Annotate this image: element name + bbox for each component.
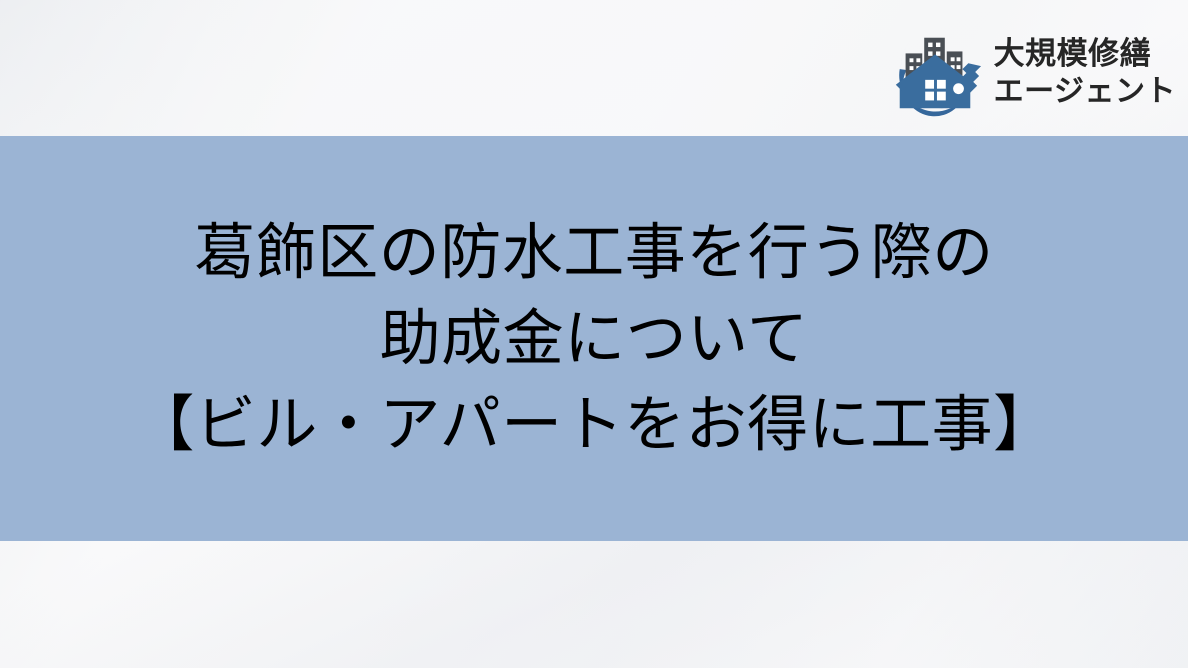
brand-logo[interactable]: 大規模修繕 エージェント [886, 24, 1176, 122]
page-title-line-3: 【ビル・アパートをお得に工事】 [133, 382, 1054, 468]
page-title-line-1: 葛飾区の防水工事を行う際の [133, 210, 1054, 296]
building-house-wrench-logo-icon [886, 24, 984, 122]
hero-band: 葛飾区の防水工事を行う際の 助成金について 【ビル・アパートをお得に工事】 [0, 136, 1188, 541]
header-bar: 大規模修繕 エージェント [0, 0, 1188, 136]
page-title-line-2: 助成金について [133, 296, 1054, 382]
page-title: 葛飾区の防水工事を行う際の 助成金について 【ビル・アパートをお得に工事】 [133, 210, 1054, 468]
slide-canvas: 大規模修繕 エージェント 葛飾区の防水工事を行う際の 助成金について 【ビル・ア… [0, 0, 1188, 668]
brand-name-line1: 大規模修繕 [994, 39, 1176, 70]
brand-name-line2: エージェント [994, 77, 1176, 107]
brand-name: 大規模修繕 エージェント [994, 39, 1176, 107]
